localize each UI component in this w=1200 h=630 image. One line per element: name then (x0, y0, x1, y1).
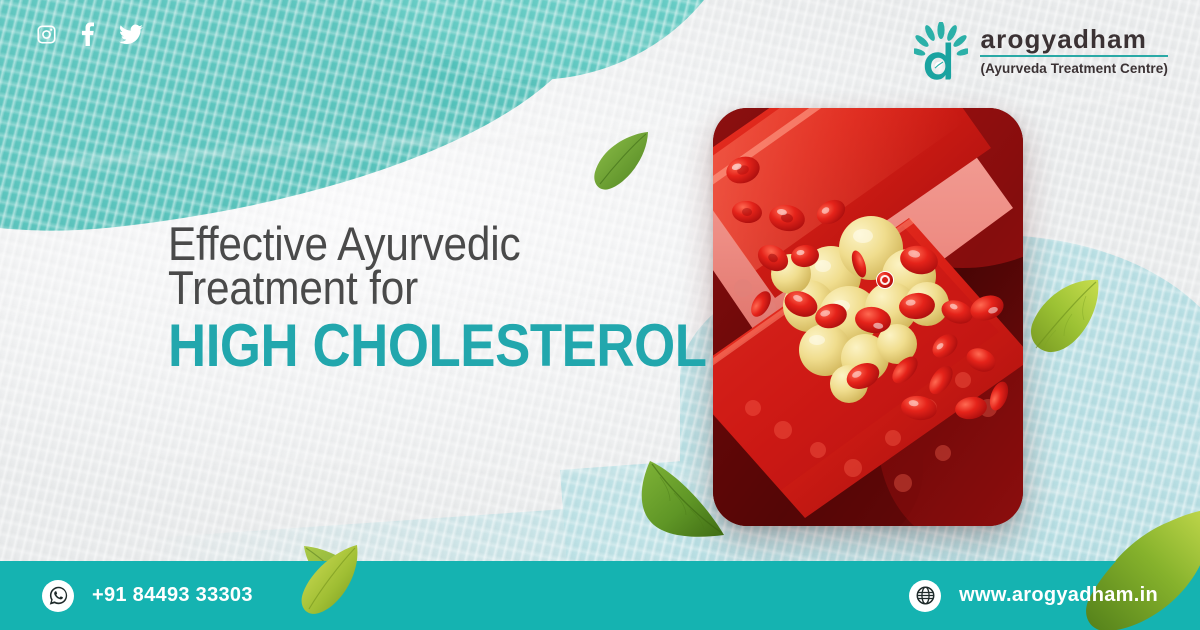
phone-number: +91 84493 33303 (92, 584, 253, 607)
globe-icon (909, 580, 941, 612)
website-url: www.arogyadham.in (959, 584, 1158, 607)
promotional-banner: arogyadham (Ayurveda Treatment Centre) E… (0, 0, 1200, 630)
whatsapp-icon (42, 580, 74, 612)
footer-bar: +91 84493 33303 www.arogyadham.in (0, 561, 1200, 630)
logo-text-block: arogyadham (Ayurveda Treatment Centre) (980, 26, 1168, 76)
social-link-instagram[interactable] (36, 24, 57, 45)
footer-content: +91 84493 33303 www.arogyadham.in (0, 561, 1200, 630)
social-link-twitter[interactable] (119, 24, 143, 45)
teal-circle-decoration (420, 55, 472, 107)
headline-line-3-highlight: HIGH CHOLESTEROL (168, 316, 626, 376)
facebook-icon (81, 22, 95, 46)
logo-wordmark: arogyadham (980, 26, 1168, 57)
brand-logo[interactable]: arogyadham (Ayurveda Treatment Centre) (914, 22, 1168, 80)
twitter-icon (119, 24, 143, 45)
leaf-decoration (592, 128, 652, 194)
leaf-tree-a-icon (914, 22, 968, 80)
social-link-facebook[interactable] (81, 22, 95, 46)
logo-tagline: (Ayurveda Treatment Centre) (980, 61, 1168, 76)
headline-block: Effective Ayurvedic Treatment for HIGH C… (168, 222, 688, 376)
contact-website[interactable]: www.arogyadham.in (909, 580, 1158, 612)
instagram-icon (36, 24, 57, 45)
headline-line-2: Treatment for (168, 266, 636, 310)
artery-cholesterol-illustration (713, 108, 1023, 526)
social-links (36, 22, 143, 46)
headline-line-1: Effective Ayurvedic (168, 222, 636, 266)
contact-phone[interactable]: +91 84493 33303 (42, 580, 253, 612)
